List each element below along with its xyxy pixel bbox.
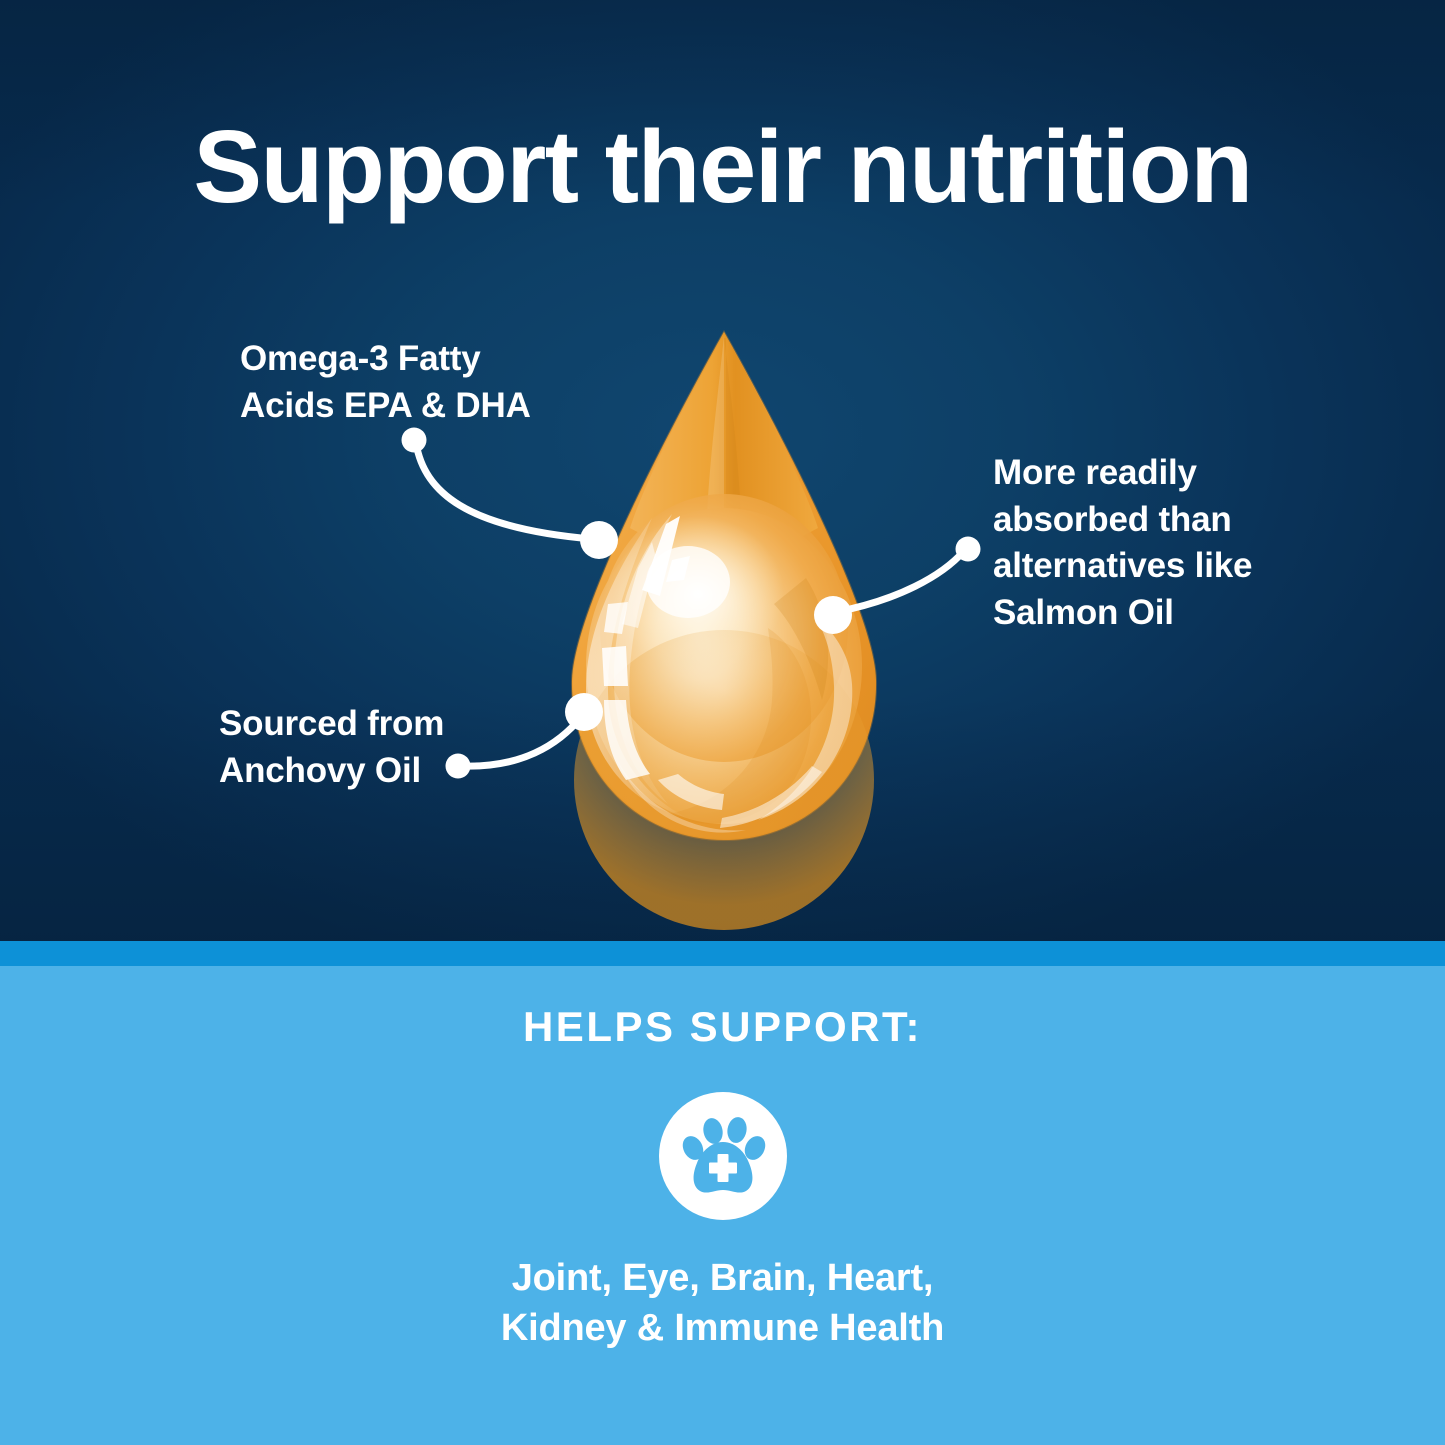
callout-line: Anchovy Oil: [219, 748, 549, 795]
helps-support-heading: HELPS SUPPORT:: [0, 1003, 1445, 1051]
callout-line: alternatives like: [993, 543, 1313, 590]
callout-source: Sourced from Anchovy Oil: [219, 701, 549, 794]
product-infographic: Support their nutrition: [0, 0, 1445, 1445]
leader-anchor-dot: [580, 521, 618, 559]
benefits-line: Kidney & Immune Health: [0, 1303, 1445, 1353]
callout-line: Salmon Oil: [993, 590, 1313, 637]
divider-blue-stripe: [0, 941, 1445, 966]
paw-with-medical-cross-icon: [659, 1092, 787, 1220]
leader-anchor-dot: [565, 693, 603, 731]
callout-omega-3: Omega-3 Fatty Acids EPA & DHA: [240, 336, 640, 429]
page-title: Support their nutrition: [0, 108, 1445, 226]
callout-line: More readily: [993, 450, 1313, 497]
callout-line: Omega-3 Fatty: [240, 336, 640, 383]
leader-endpoint-dot: [956, 537, 981, 562]
callout-line: Acids EPA & DHA: [240, 383, 640, 430]
benefits-line: Joint, Eye, Brain, Heart,: [0, 1253, 1445, 1303]
callout-line: Sourced from: [219, 701, 549, 748]
paw-badge: [659, 1092, 787, 1220]
benefits-list: Joint, Eye, Brain, Heart, Kidney & Immun…: [0, 1253, 1445, 1353]
callout-absorption: More readily absorbed than alternatives …: [993, 450, 1313, 636]
leader-endpoint-dot: [402, 428, 427, 453]
callout-line: absorbed than: [993, 497, 1313, 544]
leader-anchor-dot: [814, 596, 852, 634]
